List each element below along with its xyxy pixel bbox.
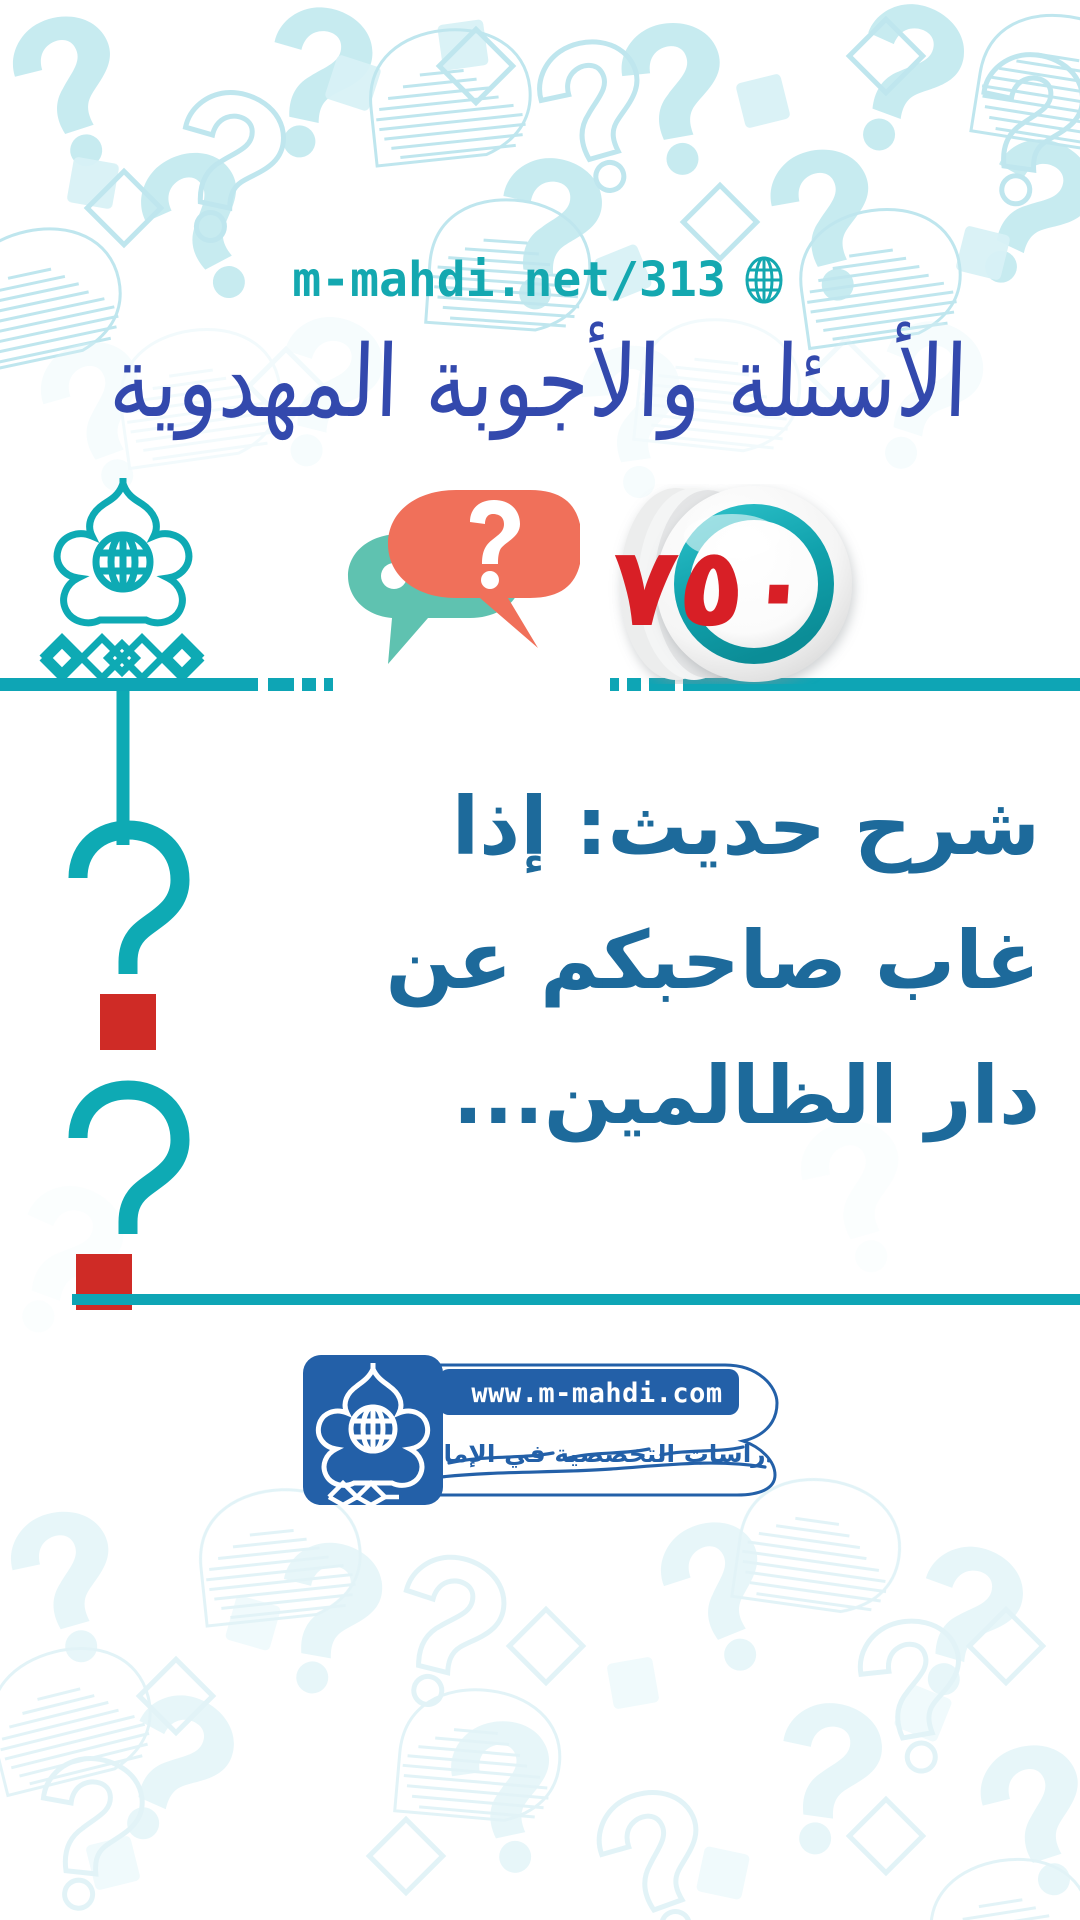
- site-url-text: m-mahdi.net/313: [292, 252, 725, 308]
- divider-left-bar: [0, 678, 258, 691]
- footer-website-url[interactable]: www.m-mahdi.com: [447, 1372, 747, 1414]
- question-text: شرح حديث: إذا غاب صاحبكم عن دار الظالمين…: [210, 760, 1040, 1163]
- globe-icon: [740, 256, 788, 304]
- site-url-row[interactable]: m-mahdi.net/313: [0, 252, 1080, 308]
- footer-logo[interactable]: [303, 1355, 443, 1505]
- question-line-1: شرح حديث: إذا: [210, 760, 1040, 894]
- mosque-ornament-icon: [57, 478, 189, 623]
- badge-number: ٧٥٠: [549, 484, 879, 684]
- bottom-divider: [72, 1294, 1080, 1305]
- page-title: الأسئلة والأجوبة المهدوية: [0, 332, 1080, 431]
- divider-dash: [302, 678, 316, 691]
- footer: www.m-mahdi.com مركز الدراسات التخصصية ف…: [0, 1340, 1080, 1520]
- footer-banner: www.m-mahdi.com مركز الدراسات التخصصية ف…: [425, 1359, 785, 1499]
- question-line-3: دار الظالمين...: [210, 1029, 1040, 1163]
- question-number-badge: ٧٥٠: [556, 484, 872, 684]
- red-square-1: [100, 994, 156, 1050]
- footer-organization-name: مركز الدراسات التخصصية في الإمام المهدي: [426, 1421, 769, 1487]
- speech-bubbles: [330, 488, 580, 718]
- question-line-2: غاب صاحبكم عن: [210, 894, 1040, 1028]
- divider-dash: [268, 678, 294, 691]
